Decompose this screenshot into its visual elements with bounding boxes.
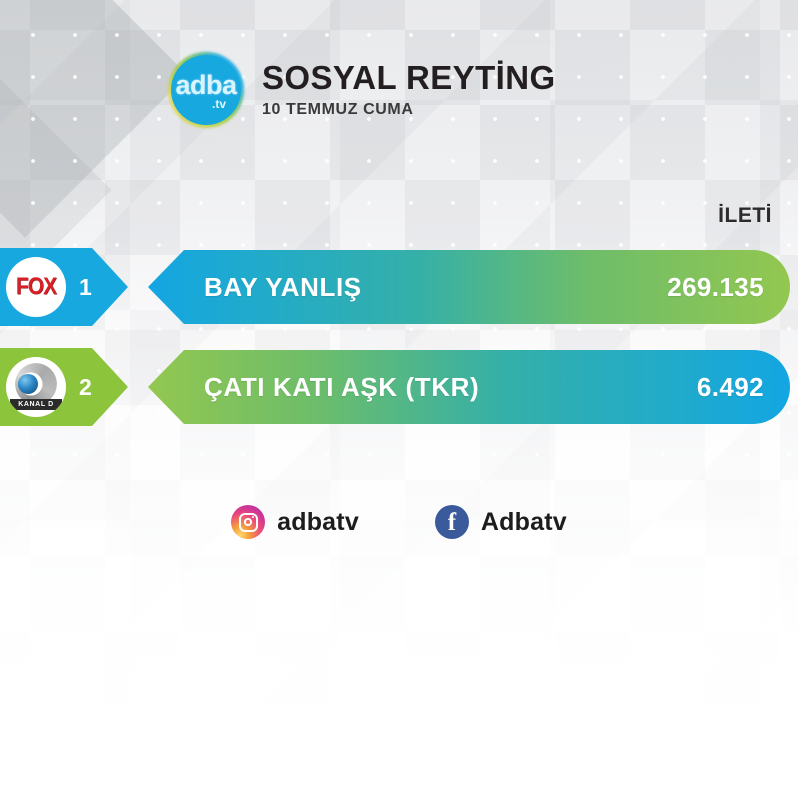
social-rating-infographic: adba .tv SOSYAL REYTİNG 10 TEMMUZ CUMA İ… [0, 0, 798, 788]
social-links: adbatv f Adbatv [0, 505, 798, 539]
instagram-link[interactable]: adbatv [231, 505, 359, 539]
kanal-d-logo-icon: KANAL D [6, 357, 66, 417]
program-value: 269.135 [667, 272, 764, 303]
kanal-d-globe-icon [18, 374, 38, 394]
rating-bar: BAY YANLIŞ 269.135 [148, 250, 790, 324]
program-value: 6.492 [697, 372, 764, 403]
program-name: ÇATI KATI AŞK (TKR) [204, 372, 479, 403]
instagram-icon[interactable] [231, 505, 265, 539]
channel-tag: KANAL D 2 [0, 348, 128, 426]
page-title: SOSYAL REYTİNG [262, 61, 556, 96]
facebook-handle: Adbatv [481, 508, 567, 537]
kanal-d-mark: KANAL D [8, 359, 64, 415]
adba-tv-logo: adba .tv [168, 52, 244, 128]
instagram-glyph [239, 513, 258, 532]
channel-tag: FOX 1 [0, 248, 128, 326]
header-titles: SOSYAL REYTİNG 10 TEMMUZ CUMA [262, 61, 556, 120]
program-name: BAY YANLIŞ [204, 272, 362, 303]
fox-wordmark: FOX [16, 273, 56, 301]
facebook-icon[interactable]: f [435, 505, 469, 539]
page-subtitle: 10 TEMMUZ CUMA [262, 101, 556, 119]
instagram-handle: adbatv [277, 508, 359, 537]
facebook-link[interactable]: f Adbatv [435, 505, 567, 539]
rank-number: 2 [79, 374, 92, 401]
value-column-header: İLETİ [718, 204, 772, 228]
table-row: ÇATI KATI AŞK (TKR) 6.492 KANAL D 2 [0, 348, 790, 426]
header: adba .tv SOSYAL REYTİNG 10 TEMMUZ CUMA [168, 52, 556, 128]
rating-bar: ÇATI KATI AŞK (TKR) 6.492 [148, 350, 790, 424]
logo-wordmark: adba [175, 72, 236, 99]
rank-number: 1 [79, 274, 92, 301]
logo-tld: .tv [212, 98, 226, 110]
fox-logo-icon: FOX [6, 257, 66, 317]
table-row: BAY YANLIŞ 269.135 FOX 1 [0, 248, 790, 326]
facebook-glyph: f [448, 510, 456, 535]
kanal-d-wordmark: KANAL D [10, 399, 62, 410]
logo-circle: adba .tv [171, 55, 241, 125]
